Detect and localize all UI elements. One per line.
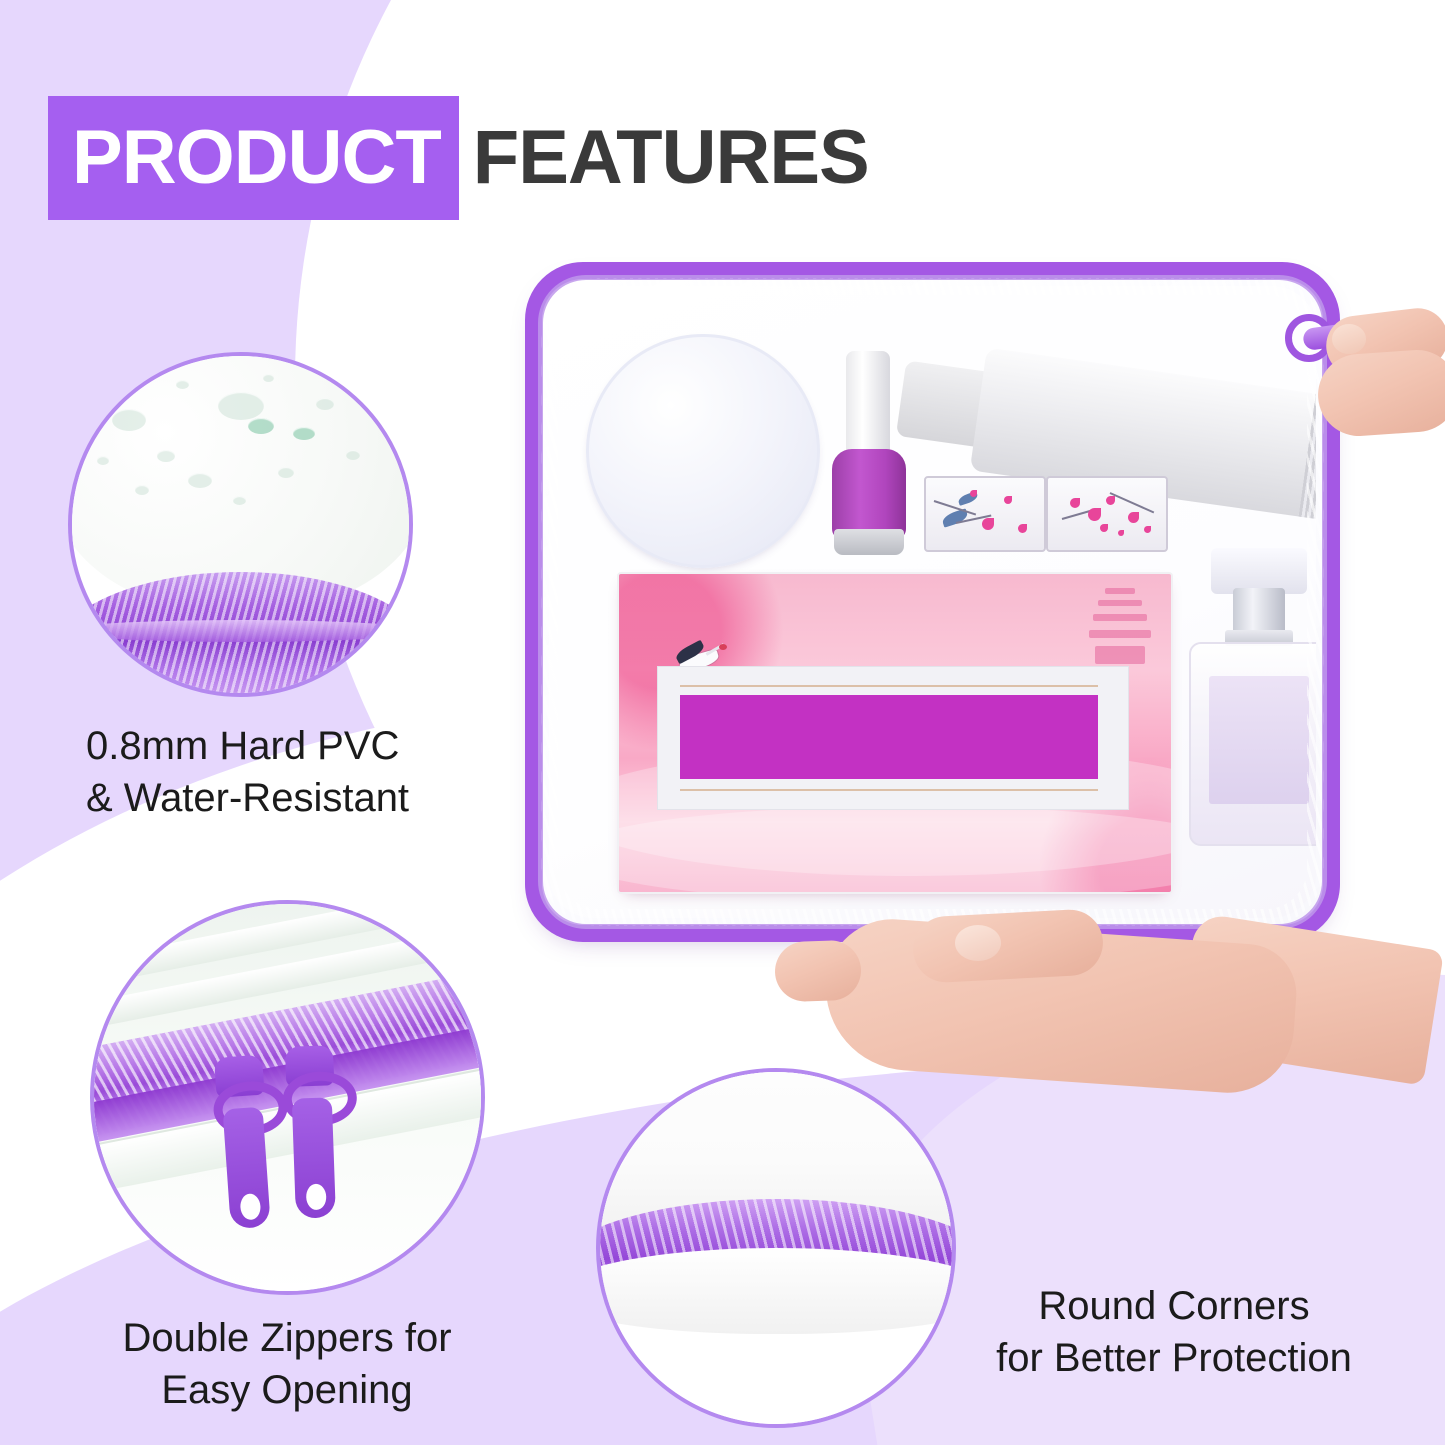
background-white-corner [1175,0,1445,300]
feature-image-zippers [90,900,485,1295]
zipper-pull-left [208,1054,282,1233]
page-title-highlight: PRODUCT [48,96,459,220]
feature-caption-pvc: 0.8mm Hard PVC & Water-Resistant [86,720,466,824]
feature-caption-corners: Round Corners for Better Protection [964,1280,1384,1384]
infographic-canvas: PRODUCT FEATURES 0.8mm Ha [0,0,1445,1445]
feature-image-corners [596,1068,956,1428]
zipper-trim [68,572,413,697]
page-title: PRODUCT FEATURES [48,96,869,220]
feature-callout-zippers: Double Zippers for Easy Opening [90,900,485,1295]
product-image [525,262,1340,942]
feature-image-pvc [68,352,413,697]
zipper-pull-right [279,1045,347,1222]
page-title-rest: FEATURES [459,120,869,196]
feature-callout-pvc: 0.8mm Hard PVC & Water-Resistant [68,352,413,697]
hand-pulling-zipper [1318,290,1445,480]
feature-caption-zippers: Double Zippers for Easy Opening [42,1312,532,1416]
feature-callout-corners: Round Corners for Better Protection [596,1068,956,1428]
